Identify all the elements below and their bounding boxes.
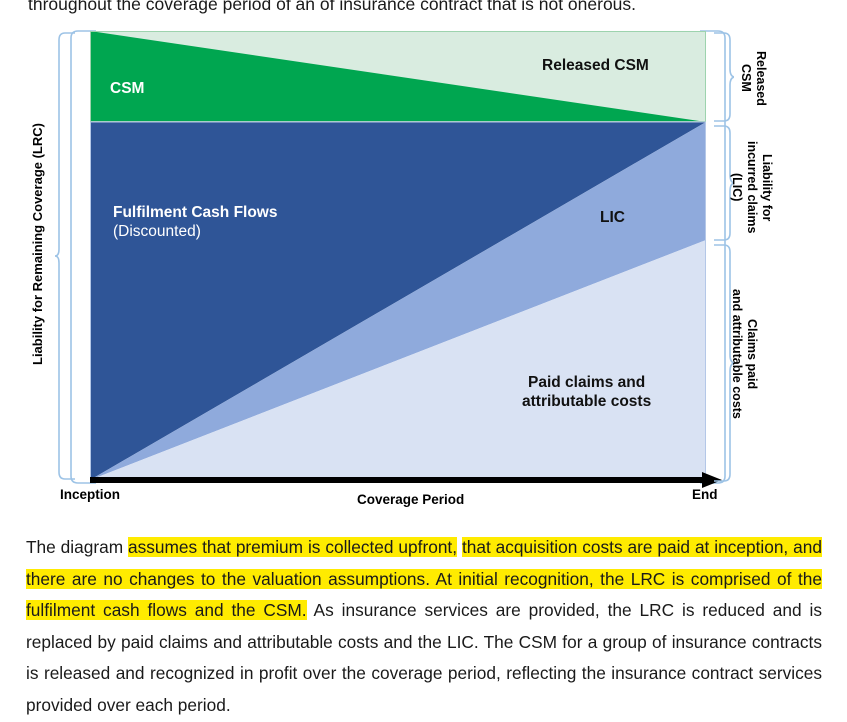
bracket-lrc <box>55 31 77 481</box>
axis-label-end: End <box>692 487 718 502</box>
label-csm: CSM <box>110 79 144 98</box>
x-axis-arrow <box>86 472 722 488</box>
plot-area <box>90 31 706 480</box>
label-lic: LIC <box>600 208 625 227</box>
label-paid-claims: Paid claims and attributable costs <box>522 373 651 411</box>
para-seg-1: The diagram <box>26 537 128 557</box>
label-released-csm: Released CSM <box>542 56 649 75</box>
diagram-figure: CSM Released CSM Fulfilment Cash Flows (… <box>0 0 847 520</box>
label-paid-line1: Paid claims and <box>522 373 651 392</box>
label-fulfilment-cash-flows: Fulfilment Cash Flows (Discounted) <box>113 203 277 241</box>
bracket-label-claims-paid: Claims paid and attributable costs <box>729 278 759 430</box>
bracket-label-lrc: Liability for Remaining Coverage (LRC) <box>30 150 45 365</box>
body-paragraph: The diagram assumes that premium is coll… <box>26 532 822 721</box>
bracket-released-csm <box>712 31 734 123</box>
axis-title-coverage-period: Coverage Period <box>357 492 464 507</box>
para-seg-2-highlight: assumes that premium is collected upfron… <box>128 537 457 557</box>
label-fcf-main: Fulfilment Cash Flows <box>113 204 277 221</box>
bracket-label-released-csm: Released CSM <box>738 40 768 116</box>
label-paid-line2: attributable costs <box>522 392 651 411</box>
axis-label-inception: Inception <box>60 487 120 502</box>
label-fcf-sub: (Discounted) <box>113 222 277 241</box>
bracket-label-lic: Liability for incurred claims (LIC) <box>729 140 774 235</box>
area-shapes <box>90 31 706 480</box>
